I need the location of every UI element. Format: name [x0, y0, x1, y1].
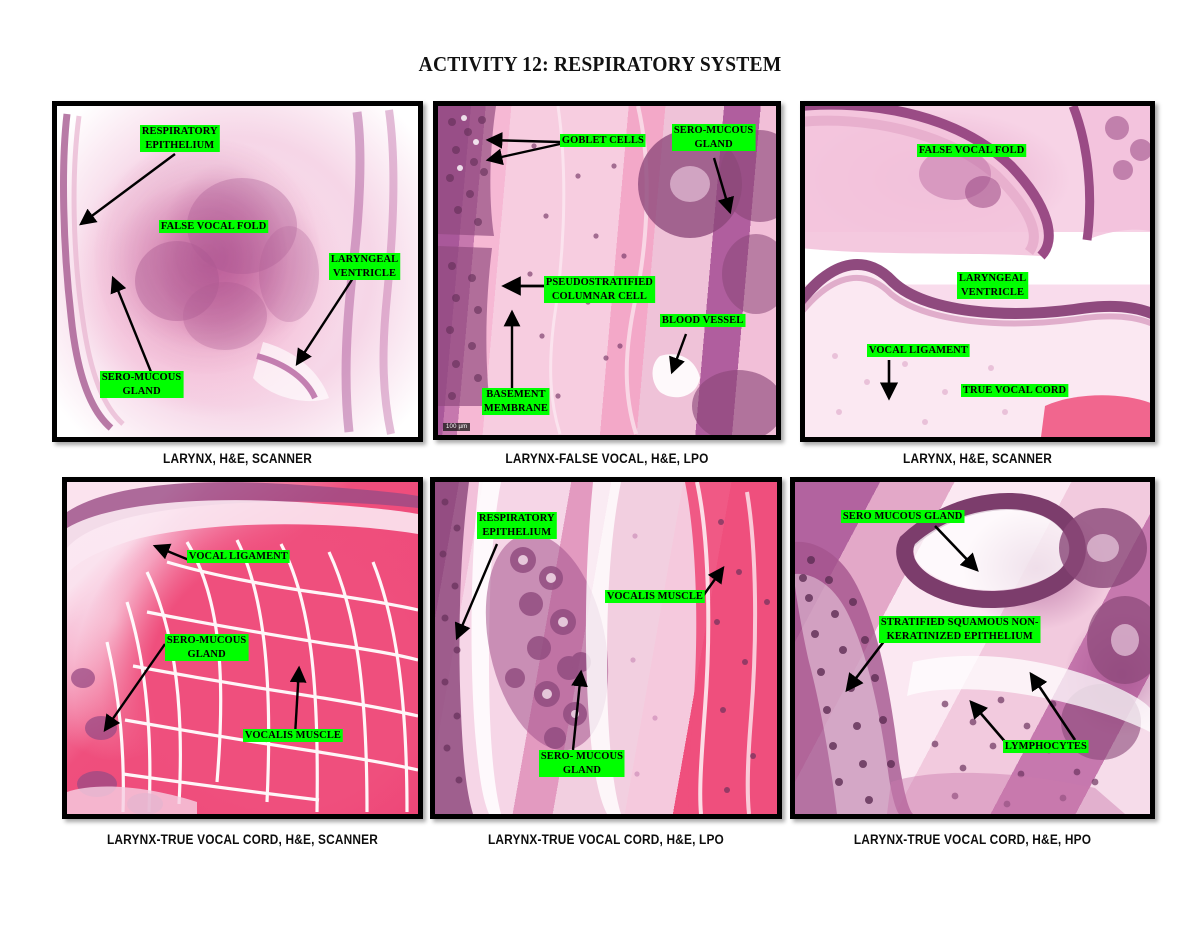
document-page: ACTIVITY 12: RESPIRATORY SYSTEM — [0, 0, 1200, 927]
slide-image-6: SERO MUCOUS GLAND STRATIFIED SQUAMOUS NO… — [795, 482, 1150, 814]
scale-bar: 100 µm — [443, 423, 470, 431]
label-sero-mucous-gland: SERO MUCOUS GLAND — [841, 510, 964, 523]
label-true-vocal-cord: TRUE VOCAL CORD — [961, 384, 1068, 397]
label-respiratory-epithelium: RESPIRATORYEPITHELIUM — [477, 512, 557, 539]
slide-image-3: FALSE VOCAL FOLD LARYNGEALVENTRICLE VOCA… — [805, 106, 1150, 437]
micrograph-panel-6[interactable]: SERO MUCOUS GLAND STRATIFIED SQUAMOUS NO… — [790, 477, 1155, 819]
slide-image-4: VOCAL LIGAMENT SERO-MUCOUSGLAND VOCALIS … — [67, 482, 418, 814]
label-sero-mucous-gland: SERO-MUCOUSGLAND — [672, 124, 755, 151]
label-laryngeal-ventricle: LARYNGEALVENTRICLE — [329, 253, 400, 280]
label-pseudostratified-columnar-cell: PSEUDOSTRATIFIEDCOLUMNAR CELL — [544, 276, 655, 303]
slide-image-5: RESPIRATORYEPITHELIUM VOCALIS MUSCLE SER… — [435, 482, 777, 814]
caption-panel-4: LARYNX-TRUE VOCAL CORD, H&E, SCANNER — [84, 832, 402, 847]
label-vocalis-muscle: VOCALIS MUSCLE — [605, 590, 705, 603]
label-stratified-squamous-non-keratinized-epithelium: STRATIFIED SQUAMOUS NON-KERATINIZED EPIT… — [879, 616, 1041, 643]
label-vocalis-muscle: VOCALIS MUSCLE — [243, 729, 343, 742]
label-sero-mucous-gland: SERO-MUCOUSGLAND — [100, 371, 183, 398]
caption-panel-3: LARYNX, H&E, SCANNER — [821, 451, 1133, 466]
micrograph-panel-5[interactable]: RESPIRATORYEPITHELIUM VOCALIS MUSCLE SER… — [430, 477, 782, 819]
label-laryngeal-ventricle: LARYNGEALVENTRICLE — [957, 272, 1028, 299]
label-blood-vessel: BLOOD VESSEL — [660, 314, 745, 327]
label-vocal-ligament: VOCAL LIGAMENT — [187, 550, 290, 563]
page-title: ACTIVITY 12: RESPIRATORY SYSTEM — [42, 52, 1158, 77]
label-sero-mucous-gland: SERO-MUCOUSGLAND — [165, 634, 248, 661]
label-basement-membrane: BASEMENTMEMBRANE — [482, 388, 550, 415]
micrograph-panel-1[interactable]: RESPIRATORYEPITHELIUM FALSE VOCAL FOLD L… — [52, 101, 423, 442]
slide-image-1: RESPIRATORYEPITHELIUM FALSE VOCAL FOLD L… — [57, 106, 418, 437]
label-false-vocal-fold: FALSE VOCAL FOLD — [159, 220, 268, 233]
micrograph-panel-2[interactable]: GOBLET CELLS SERO-MUCOUSGLAND PSEUDOSTRA… — [433, 101, 781, 440]
label-sero-mucous-gland: SERO- MUCOUSGLAND — [539, 750, 625, 777]
label-false-vocal-fold: FALSE VOCAL FOLD — [917, 144, 1026, 157]
annotation-arrows-6 — [795, 482, 1150, 814]
label-respiratory-epithelium: RESPIRATORYEPITHELIUM — [140, 125, 220, 152]
caption-panel-2: LARYNX-FALSE VOCAL, H&E, LPO — [454, 451, 760, 466]
annotation-arrows-2 — [438, 106, 776, 435]
caption-panel-5: LARYNX-TRUE VOCAL CORD, H&E, LPO — [451, 832, 761, 847]
caption-panel-1: LARYNX, H&E, SCANNER — [74, 451, 400, 466]
caption-panel-6: LARYNX-TRUE VOCAL CORD, H&E, HPO — [812, 832, 1133, 847]
micrograph-panel-3[interactable]: FALSE VOCAL FOLD LARYNGEALVENTRICLE VOCA… — [800, 101, 1155, 442]
micrograph-panel-4[interactable]: VOCAL LIGAMENT SERO-MUCOUSGLAND VOCALIS … — [62, 477, 423, 819]
label-goblet-cells: GOBLET CELLS — [560, 134, 646, 147]
label-vocal-ligament: VOCAL LIGAMENT — [867, 344, 970, 357]
slide-image-2: GOBLET CELLS SERO-MUCOUSGLAND PSEUDOSTRA… — [438, 106, 776, 435]
label-lymphocytes: LYMPHOCYTES — [1003, 740, 1089, 753]
